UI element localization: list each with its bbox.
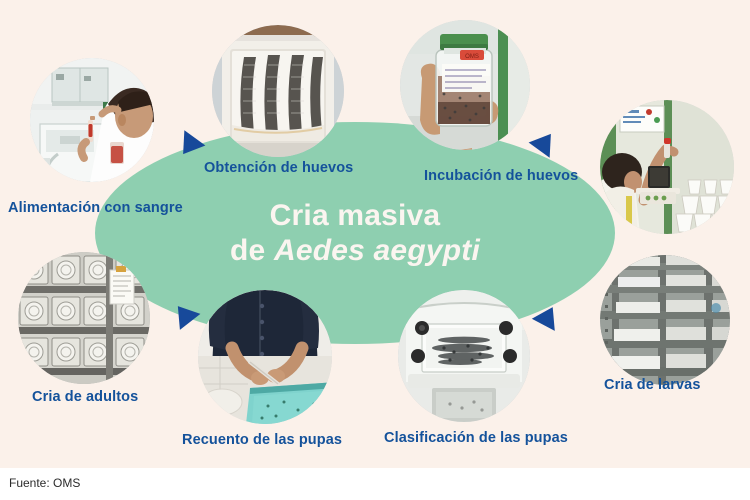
label-alimentacion-con-sangre: Alimentación con sangre bbox=[8, 200, 183, 216]
photo-blood-feeding[interactable] bbox=[30, 58, 154, 182]
hub-title-line-2: de Aedes aegypti bbox=[230, 233, 480, 268]
photo-pupae-counting[interactable] bbox=[198, 290, 332, 424]
photo-egg-incubation[interactable]: OMS bbox=[400, 20, 530, 150]
hub-title-species: Aedes aegypti bbox=[274, 234, 480, 267]
label-cria-de-adultos: Cria de adultos bbox=[32, 389, 138, 405]
infographic-canvas: Cria masiva de Aedes aegypti bbox=[0, 0, 750, 500]
hub-title-prefix: de bbox=[230, 234, 274, 267]
photo-weighing-station[interactable] bbox=[600, 100, 734, 234]
label-obtencion-de-huevos: Obtención de huevos bbox=[204, 160, 353, 176]
label-recuento-de-las-pupas: Recuento de las pupas bbox=[182, 432, 342, 448]
photo-egg-collection[interactable] bbox=[212, 25, 344, 157]
label-clasificacion-de-las-pupas: Clasificación de las pupas bbox=[384, 430, 568, 446]
label-incubacion-de-huevos: Incubación de huevos bbox=[424, 168, 578, 184]
photo-larvae-rearing[interactable] bbox=[600, 255, 730, 385]
svg-text:OMS: OMS bbox=[465, 54, 479, 60]
hub-title-line-1: Cria masiva bbox=[270, 198, 441, 233]
source-attribution: Fuente: OMS bbox=[9, 476, 80, 490]
photo-adult-rearing[interactable] bbox=[18, 252, 150, 384]
footer-bar: Fuente: OMS bbox=[0, 468, 750, 500]
label-cria-de-larvas: Cria de larvas bbox=[604, 377, 701, 393]
photo-pupae-sorting[interactable] bbox=[398, 290, 530, 422]
